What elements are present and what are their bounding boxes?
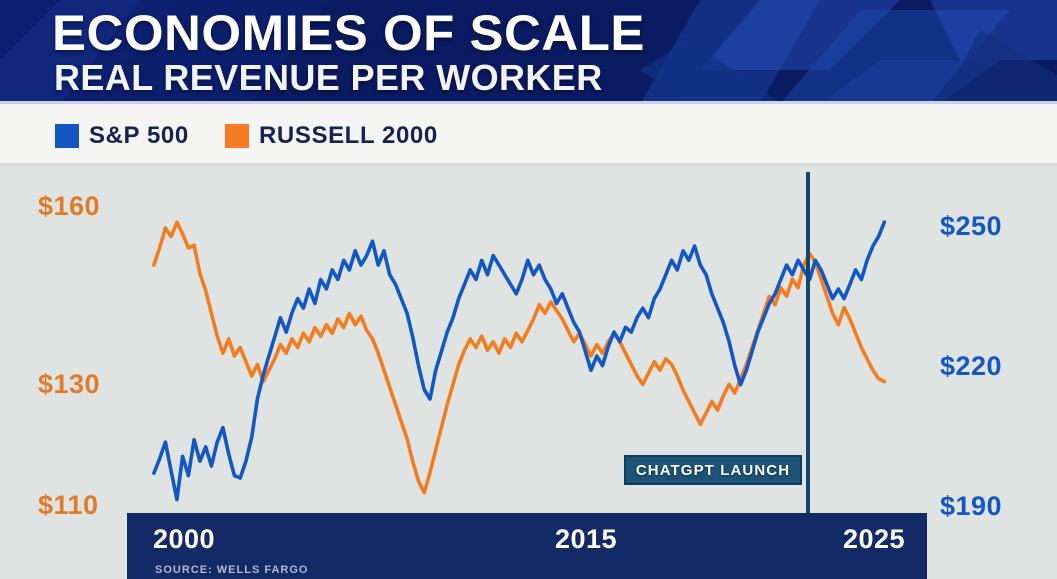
x-tick-2000: 2000 xyxy=(153,524,215,555)
x-axis-bar: 2000 2015 2025 SOURCE: WELLS FARGO xyxy=(127,513,927,579)
legend: S&P 500 RUSSELL 2000 xyxy=(0,104,1057,166)
x-tick-2015: 2015 xyxy=(555,524,617,555)
legend-swatch-icon xyxy=(55,124,79,148)
chatgpt-launch-label: CHATGPT LAUNCH xyxy=(636,462,790,479)
legend-item-sp500[interactable]: S&P 500 xyxy=(55,122,189,150)
x-tick-2025: 2025 xyxy=(843,524,905,555)
header-banner: ECONOMIES OF SCALE REAL REVENUE PER WORK… xyxy=(0,0,1057,104)
chatgpt-launch-vline xyxy=(806,172,810,513)
legend-item-russell2000[interactable]: RUSSELL 2000 xyxy=(225,122,438,150)
legend-label-russell2000: RUSSELL 2000 xyxy=(259,122,438,150)
source-note: SOURCE: WELLS FARGO xyxy=(155,564,308,576)
chatgpt-launch-callout[interactable]: CHATGPT LAUNCH xyxy=(624,455,802,485)
legend-label-sp500: S&P 500 xyxy=(89,122,189,150)
legend-swatch-icon xyxy=(225,124,249,148)
page-subtitle: REAL REVENUE PER WORKER xyxy=(54,58,603,98)
line-russell2000 xyxy=(154,222,885,492)
chart-screenshot: ECONOMIES OF SCALE REAL REVENUE PER WORK… xyxy=(0,0,1057,579)
page-title: ECONOMIES OF SCALE xyxy=(52,6,645,60)
